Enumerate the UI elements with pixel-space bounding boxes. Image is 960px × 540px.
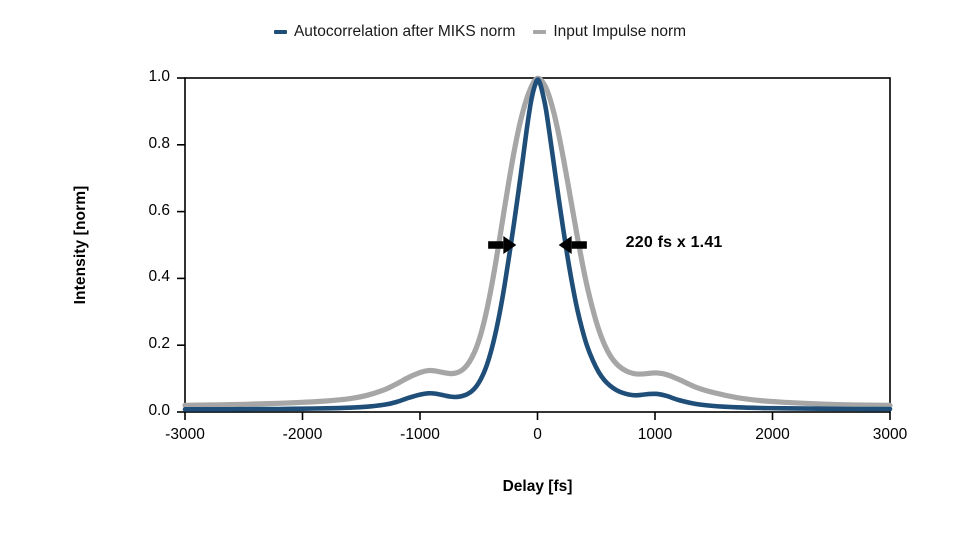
x-tick-label-3: 0 [493,426,583,444]
y-tick-label-1: 0.2 [124,335,170,353]
x-tick-label-2: -1000 [375,426,465,444]
fwhm-annotation-label: 220 fs x 1.41 [626,234,723,252]
y-tick-label-3: 0.6 [124,202,170,220]
y-tick-label-4: 0.8 [124,135,170,153]
x-axis-tick-marks [185,412,890,420]
x-axis-title: Delay [fs] [185,478,890,496]
fwhm-arrow-shaft-1 [572,241,587,249]
y-tick-label-2: 0.4 [124,268,170,286]
x-tick-label-5: 2000 [728,426,818,444]
y-axis-title: Intensity [norm] [72,75,90,415]
x-tick-label-4: 1000 [610,426,700,444]
x-tick-label-0: -3000 [140,426,230,444]
y-axis-tick-marks [177,78,185,412]
y-tick-label-0: 0.0 [124,402,170,420]
axis-frame [185,78,890,412]
fwhm-arrow-shaft-0 [488,241,503,249]
x-tick-label-1: -2000 [258,426,348,444]
y-tick-label-5: 1.0 [124,68,170,86]
chart-figure: Autocorrelation after MIKS norm Input Im… [0,0,960,540]
x-tick-label-6: 3000 [845,426,935,444]
